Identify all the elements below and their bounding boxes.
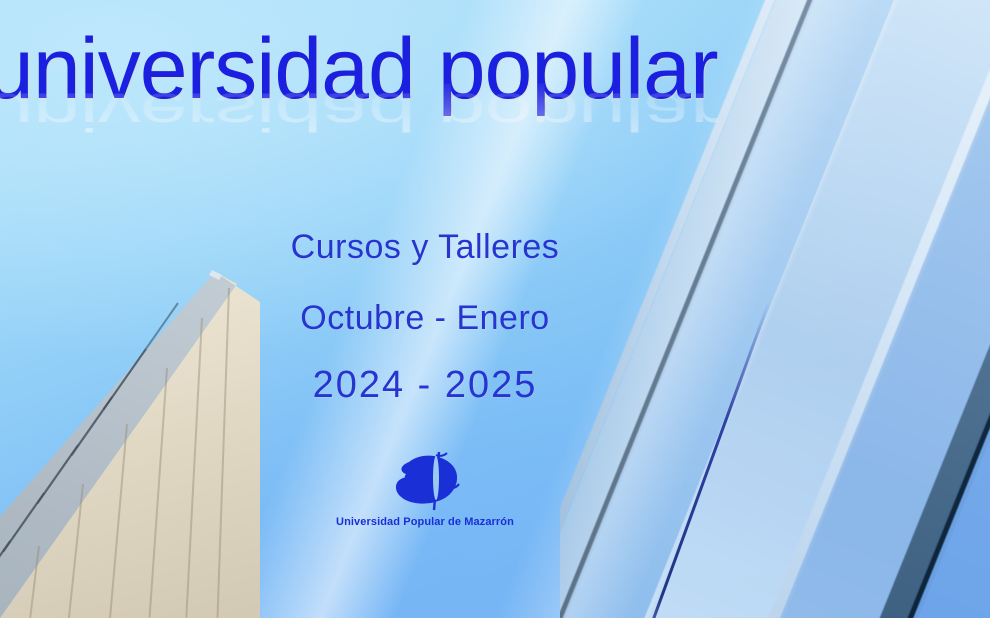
logo-caption: Universidad Popular de Mazarrón bbox=[300, 516, 550, 528]
subtitle-courses: Cursos y Talleres bbox=[165, 228, 685, 267]
poster-title-area: universidad popular universidad popular bbox=[0, 26, 990, 206]
subtitle-years: 2024 - 2025 bbox=[165, 364, 685, 407]
poster-subtitle-block: Cursos y Talleres Octubre - Enero 2024 -… bbox=[165, 228, 685, 407]
subtitle-months: Octubre - Enero bbox=[165, 299, 685, 338]
palette-brushstroke-icon bbox=[387, 448, 463, 512]
poster-title-reflection: universidad popular bbox=[0, 84, 718, 138]
poster: universidad popular universidad popular … bbox=[0, 0, 990, 618]
logo-block: Universidad Popular de Mazarrón bbox=[300, 448, 550, 528]
